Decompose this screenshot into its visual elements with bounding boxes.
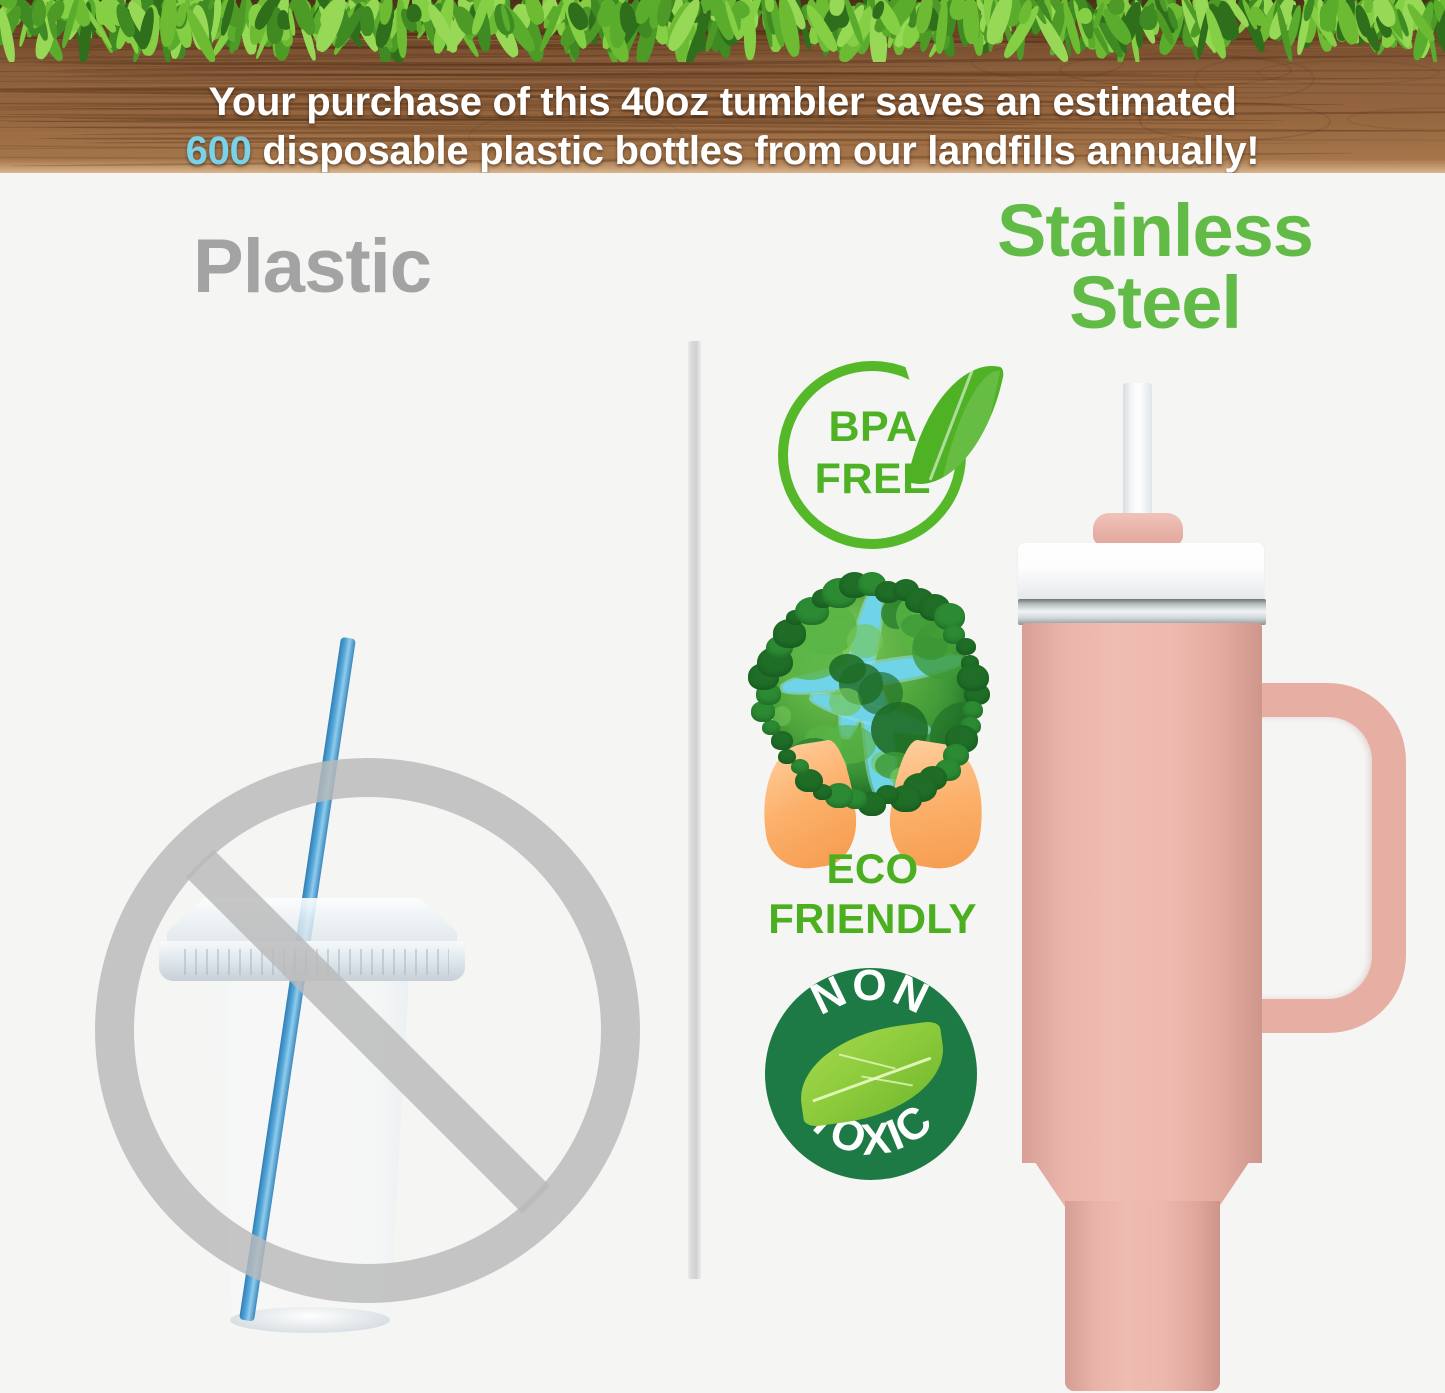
bpa-label-line-2: FREE xyxy=(804,453,942,505)
stainless-steel-heading: Stainless Steel xyxy=(970,195,1340,339)
tumbler-base xyxy=(1065,1201,1220,1391)
bpa-label-line-1: BPA xyxy=(804,401,942,453)
comparison-stage: Plastic Stainless Steel BPA FREE xyxy=(0,173,1445,1334)
eco-label-line-1: ECO xyxy=(740,844,1005,894)
tumbler-straw xyxy=(1123,383,1152,533)
bottle-count-highlight: 600 xyxy=(186,129,252,173)
stainless-steel-tumbler-image xyxy=(1000,383,1420,1393)
badge-bpa-free: BPA FREE xyxy=(762,353,1012,558)
banner-message: Your purchase of this 40oz tumbler saves… xyxy=(0,78,1445,173)
certification-badges: BPA FREE ECO FRIENDLY xyxy=(740,353,1005,1198)
bpa-free-label: BPA FREE xyxy=(804,401,942,505)
tumbler-lid xyxy=(1018,543,1264,601)
badge-non-toxic: NON TOXIC xyxy=(740,958,1005,1198)
svg-text:NON: NON xyxy=(804,968,939,1025)
prohibition-sign-icon xyxy=(95,758,640,1303)
vertical-divider xyxy=(688,341,701,1279)
steel-heading-line-1: Stainless xyxy=(970,195,1340,267)
steel-heading-line-2: Steel xyxy=(970,267,1340,339)
plastic-heading: Plastic xyxy=(193,223,431,310)
grass-foliage-strip xyxy=(0,0,1445,62)
banner-line-2: 600 disposable plastic bottles from our … xyxy=(0,127,1445,173)
eco-friendly-label: ECO FRIENDLY xyxy=(740,844,1005,944)
banner-line-1: Your purchase of this 40oz tumbler saves… xyxy=(0,78,1445,127)
tumbler-taper xyxy=(1022,1143,1262,1207)
eco-label-line-2: FRIENDLY xyxy=(740,894,1005,944)
eco-message-banner: Your purchase of this 40oz tumbler saves… xyxy=(0,0,1445,173)
badge-eco-friendly: ECO FRIENDLY xyxy=(740,576,1005,936)
tumbler-body xyxy=(1022,623,1262,1163)
tumbler-steel-band xyxy=(1018,599,1266,625)
plastic-cup-image xyxy=(135,613,610,1313)
